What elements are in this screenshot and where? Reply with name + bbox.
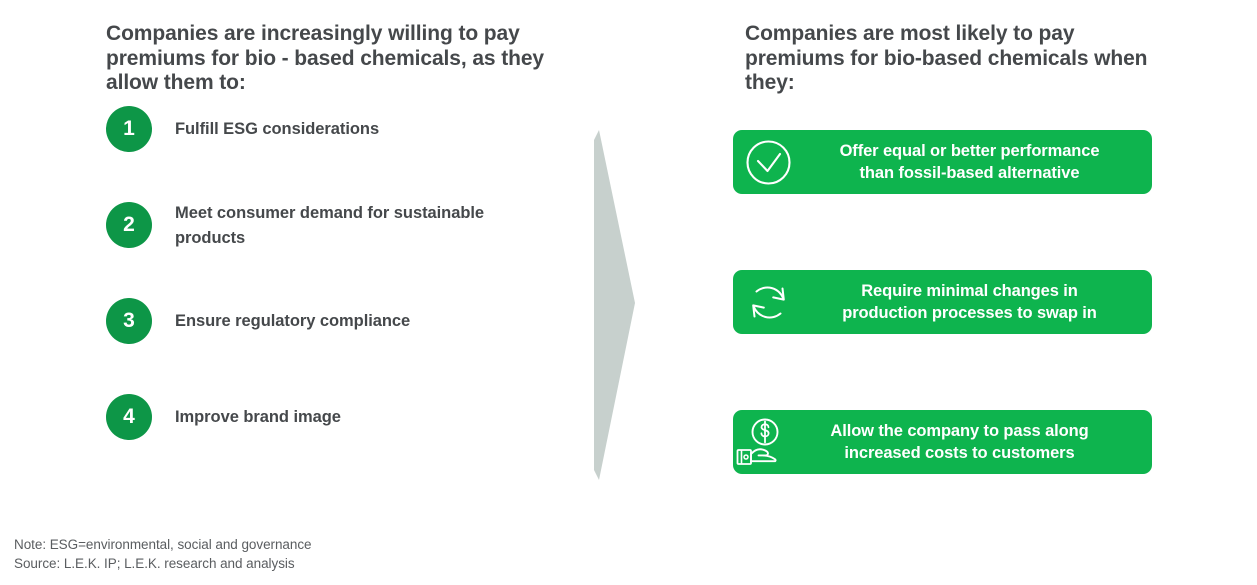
right-panel: Companies are most likely to pay premium… [745, 22, 1155, 96]
number-badge-3: 3 [106, 298, 152, 344]
green-box-text-3: Allow the company to pass along increase… [781, 420, 1152, 464]
footer-source: Source: L.E.K. IP; L.E.K. research and a… [14, 555, 614, 574]
footer-note: Note: ESG=environmental, social and gove… [14, 536, 614, 555]
numbered-list: 1 Fulfill ESG considerations 2 Meet cons… [106, 106, 576, 490]
list-item-label-1: Fulfill ESG considerations [175, 117, 555, 142]
green-box-line-1a: Offer equal or better performance [797, 140, 1142, 162]
left-panel: Companies are increasingly willing to pa… [106, 22, 576, 96]
circular-arrows-icon [739, 279, 797, 326]
green-box-performance: Offer equal or better performance than f… [733, 130, 1152, 194]
list-item: 3 Ensure regulatory compliance [106, 298, 576, 394]
green-box-line-3b: increased costs to customers [781, 442, 1138, 464]
list-item: 1 Fulfill ESG considerations [106, 106, 576, 202]
green-box-line-2b: production processes to swap in [797, 302, 1142, 324]
green-box-text-1: Offer equal or better performance than f… [797, 140, 1152, 184]
list-item: 4 Improve brand image [106, 394, 576, 490]
green-box-line-2a: Require minimal changes in [797, 280, 1142, 302]
number-badge-4: 4 [106, 394, 152, 440]
green-box-costs: Allow the company to pass along increase… [733, 410, 1152, 474]
list-item-label-3: Ensure regulatory compliance [175, 309, 555, 334]
list-item-label-4: Improve brand image [175, 405, 555, 430]
green-box-line-1b: than fossil-based alternative [797, 162, 1142, 184]
list-item-label-2: Meet consumer demand for sustainable pro… [175, 201, 555, 251]
right-chevron-arrow-icon [594, 130, 640, 480]
footer: Note: ESG=environmental, social and gove… [14, 536, 614, 573]
check-circle-icon [739, 139, 797, 186]
green-box-list: Offer equal or better performance than f… [733, 130, 1152, 474]
green-box-text-2: Require minimal changes in production pr… [797, 280, 1152, 324]
number-badge-2: 2 [106, 202, 152, 248]
list-item: 2 Meet consumer demand for sustainable p… [106, 202, 576, 298]
right-panel-heading: Companies are most likely to pay premium… [745, 22, 1155, 96]
green-box-process: Require minimal changes in production pr… [733, 270, 1152, 334]
left-panel-heading: Companies are increasingly willing to pa… [106, 22, 576, 96]
green-box-line-3a: Allow the company to pass along [781, 420, 1138, 442]
number-badge-1: 1 [106, 106, 152, 152]
